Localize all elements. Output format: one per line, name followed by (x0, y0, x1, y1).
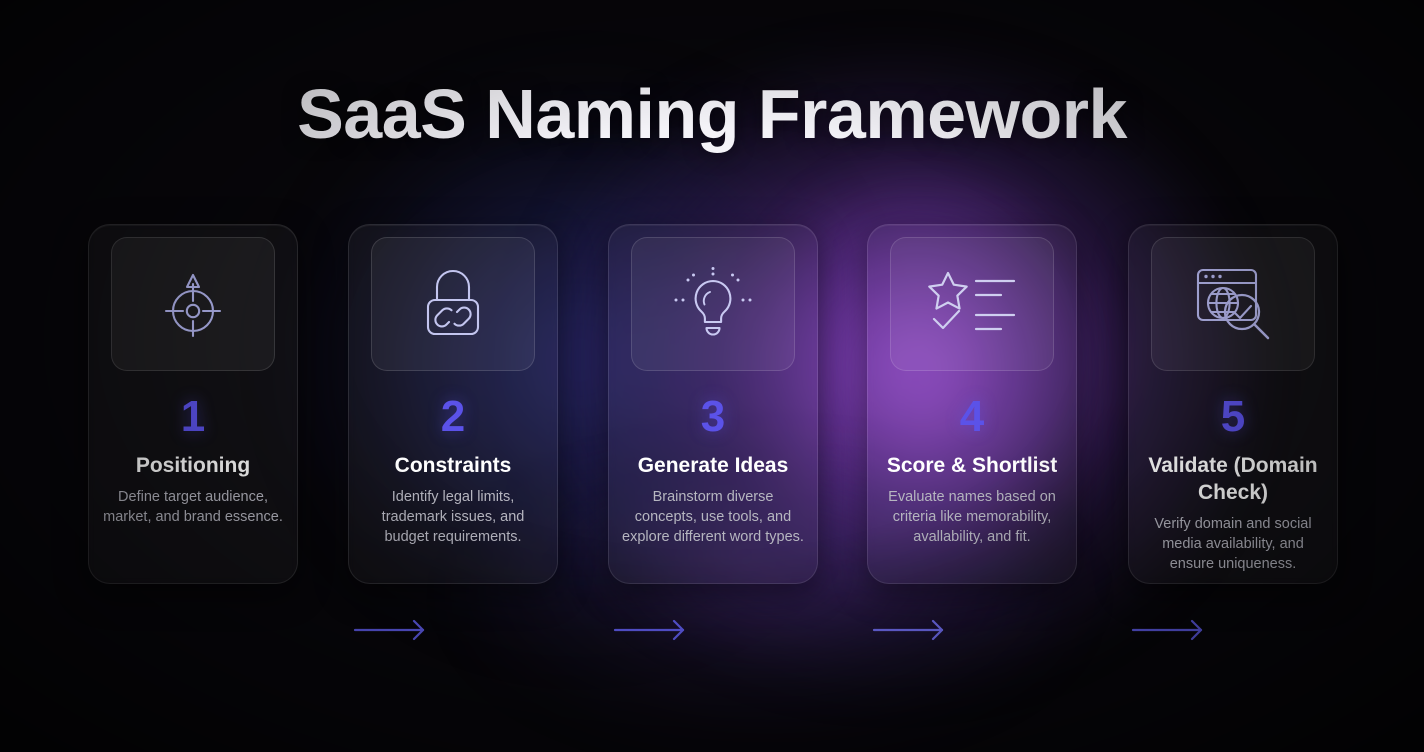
step-title: Score & Shortlist (881, 453, 1063, 480)
step-description: Define target audience, market, and bran… (89, 487, 297, 527)
step-description: Verify domain and social media availabil… (1129, 514, 1337, 574)
step-icon-container (890, 237, 1054, 371)
step-title: Validate (Domain Check) (1129, 453, 1337, 507)
step-icon-container (111, 237, 275, 371)
step-card-score-shortlist[interactable]: 4 Score & Shortlist Evaluate names based… (867, 224, 1077, 584)
arrow-2-to-3 (615, 617, 693, 643)
step-icon-container (371, 237, 535, 371)
step-icon-container (1151, 237, 1315, 371)
step-title: Constraints (389, 453, 518, 480)
lightbulb-idea-icon (670, 264, 756, 344)
arrow-4-to-5 (1133, 617, 1211, 643)
padlock-link-icon (420, 266, 486, 342)
arrow-1-to-2 (355, 617, 433, 643)
step-title: Generate Ideas (632, 453, 795, 480)
target-crosshair-icon (158, 267, 228, 341)
step-description: Evaluate names based on criteria like me… (868, 487, 1076, 547)
step-card-constraints[interactable]: 2 Constraints Identify legal limits, tra… (348, 224, 558, 584)
step-number: 1 (181, 395, 205, 439)
step-title: Positioning (130, 453, 256, 480)
step-description: Brainstorm diverse concepts, use tools, … (609, 487, 817, 547)
page-title: SaaS Naming Framework (0, 74, 1424, 154)
steps-row: 1 Positioning Define target audience, ma… (88, 224, 1338, 584)
step-card-generate-ideas[interactable]: 3 Generate Ideas Brainstorm diverse conc… (608, 224, 818, 584)
arrow-3-to-4 (874, 617, 952, 643)
browser-globe-search-icon (1190, 264, 1276, 344)
step-card-validate-domain-check[interactable]: 5 Validate (Domain Check) Verify domain … (1128, 224, 1338, 584)
step-description: Identify legal limits, trademark issues,… (349, 487, 557, 547)
infographic-canvas: SaaS Naming Framework 1 Posi (0, 0, 1424, 752)
step-number: 2 (441, 395, 465, 439)
step-icon-container (631, 237, 795, 371)
step-number: 4 (960, 395, 984, 439)
star-checklist-icon (926, 269, 1018, 339)
step-card-positioning[interactable]: 1 Positioning Define target audience, ma… (88, 224, 298, 584)
step-number: 5 (1221, 395, 1245, 439)
step-number: 3 (701, 395, 725, 439)
